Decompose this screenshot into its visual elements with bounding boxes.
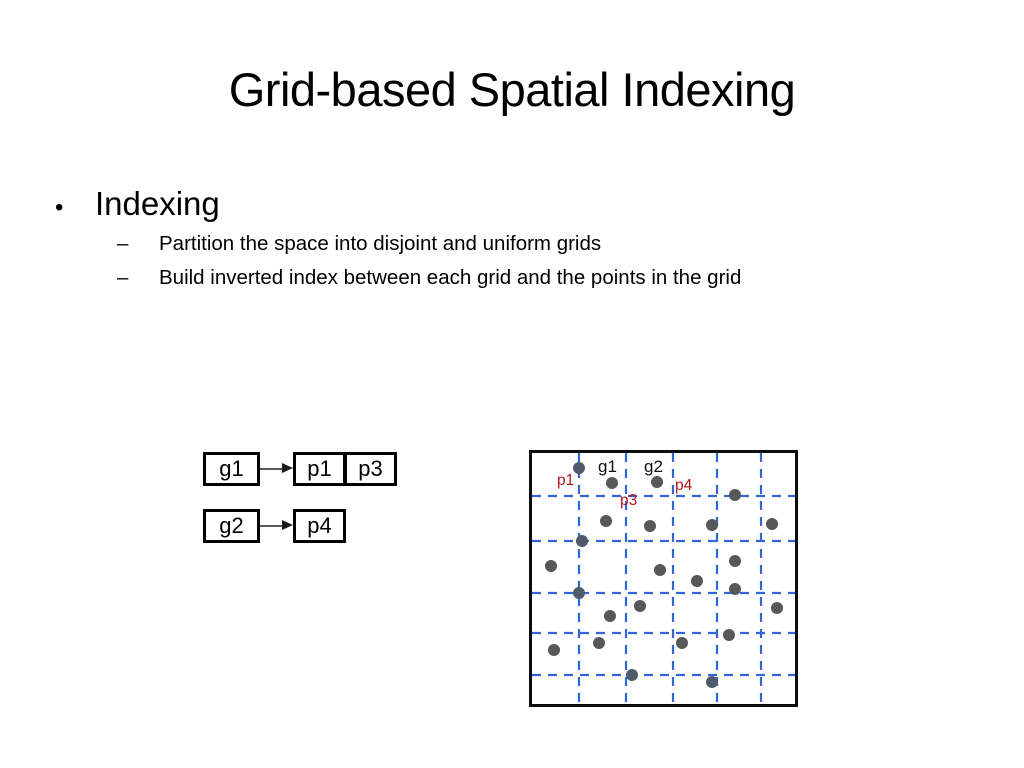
grid-cell-label-g2: g2 [644, 458, 663, 475]
grid-point [604, 610, 616, 622]
page-title: Grid-based Spatial Indexing [0, 62, 1024, 117]
bullet-list: • Indexing – Partition the space into di… [55, 185, 935, 290]
bullet-item-partition: – Partition the space into disjoint and … [55, 232, 935, 257]
grid-point [729, 583, 741, 595]
inverted-index-diagram: g1 p1 p3 g2 p4 [203, 452, 403, 552]
grid-point [548, 644, 560, 656]
point-label-p4: p4 [675, 478, 692, 494]
bullet-item-indexing: • Indexing [55, 185, 935, 223]
grid-point [766, 518, 778, 530]
grid-key-box: g1 [203, 452, 260, 486]
grid-point [676, 637, 688, 649]
grid-point [729, 489, 741, 501]
dash-marker-icon: – [117, 268, 159, 289]
grid-point [545, 560, 557, 572]
point-value-box: p1 [293, 452, 346, 486]
point-value-box: p4 [293, 509, 346, 543]
grid-point [723, 629, 735, 641]
grid-point [626, 669, 638, 681]
arrow-right-icon [260, 524, 293, 528]
grid-key-box: g2 [203, 509, 260, 543]
grid-cell-label-g1: g1 [598, 458, 617, 475]
grid-point [606, 477, 618, 489]
grid-point [729, 555, 741, 567]
grid-point [573, 587, 585, 599]
dash-marker-icon: – [117, 234, 159, 255]
bullet-text: Indexing [95, 185, 220, 223]
grid-point [651, 476, 663, 488]
point-value-box: p3 [344, 452, 397, 486]
grid-point [691, 575, 703, 587]
bullet-item-inverted-index: – Build inverted index between each grid… [55, 266, 935, 291]
grid-point [654, 564, 666, 576]
grid-point [576, 535, 588, 547]
grid-point [600, 515, 612, 527]
grid-point [706, 676, 718, 688]
point-label-p1: p1 [557, 473, 574, 489]
point-label-p3: p3 [620, 493, 637, 509]
grid-map-diagram: g1g2p1p3p4 [529, 450, 798, 707]
grid-point [706, 519, 718, 531]
grid-point [593, 637, 605, 649]
grid-point [771, 602, 783, 614]
grid-lines [532, 453, 795, 704]
grid-point [644, 520, 656, 532]
bullet-text: Build inverted index between each grid a… [159, 266, 741, 291]
bullet-text: Partition the space into disjoint and un… [159, 232, 601, 257]
grid-point [573, 462, 585, 474]
grid-point [634, 600, 646, 612]
arrow-right-icon [260, 467, 293, 471]
bullet-marker-icon: • [55, 196, 95, 220]
